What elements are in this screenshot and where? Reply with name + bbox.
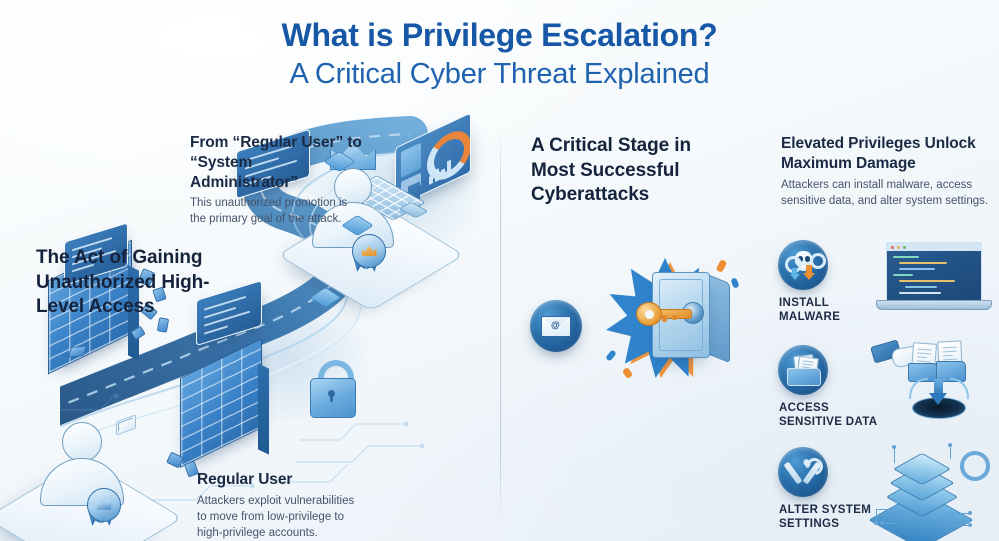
promotion-body: This unauthorized promotion is the prima…: [190, 196, 362, 228]
header: What is Privilege Escalation? A Critical…: [0, 18, 999, 91]
divider-left-middle: [500, 125, 501, 523]
list-item-label: INSTALL MALWARE: [779, 296, 889, 325]
suction-swoosh-icon: [904, 377, 974, 403]
middle-heading-block: A Critical Stage in Most Successful Cybe…: [531, 134, 731, 208]
key-unlocking-safe-group: [606, 258, 746, 388]
page-title: What is Privilege Escalation?: [0, 18, 999, 54]
key-tooth: [672, 315, 677, 320]
middle-heading-text: A Critical Stage in Most Successful Cybe…: [531, 134, 731, 208]
wrench-screwdriver-icon: [778, 447, 828, 497]
laptop-code-icon: [874, 236, 994, 328]
key-head-icon: [636, 302, 662, 326]
spark: [730, 277, 739, 289]
gear-icon: [960, 451, 990, 481]
promotion-heading: From “Regular User” to “System Administr…: [190, 133, 362, 192]
promotion-text-block: From “Regular User” to “System Administr…: [190, 133, 362, 228]
list-item[interactable]: ACCESS SENSITIVE DATA: [778, 345, 993, 439]
key-tooth: [662, 315, 667, 322]
left-main-heading-text: The Act of Gaining Unauthorized High-Lev…: [36, 246, 236, 320]
spark: [622, 367, 633, 379]
right-heading-block: Elevated Privileges Unlock Maximum Damag…: [781, 134, 989, 209]
right-body-text: Attackers can install malware, access se…: [781, 178, 989, 210]
spark: [716, 259, 728, 273]
left-main-heading: The Act of Gaining Unauthorized High-Lev…: [36, 246, 236, 320]
padlock-body: [310, 378, 356, 418]
regular-user-heading: Regular User: [197, 470, 363, 490]
screwdriver-shape: [784, 462, 803, 485]
regular-user-badge-icon: [87, 488, 121, 522]
regular-user-text-block: Regular User Attackers exploit vulnerabi…: [197, 470, 363, 541]
skull-gear-download-icon: [778, 240, 828, 290]
list-item-label: ACCESS SENSITIVE DATA: [779, 401, 889, 430]
server-stack-gear-icon: [874, 443, 994, 535]
admin-badge-icon: [352, 234, 386, 268]
infographic-canvas: What is Privilege Escalation? A Critical…: [0, 0, 999, 541]
email-envelope-icon: @: [530, 300, 582, 352]
list-item[interactable]: ALTER SYSTEM SETTINGS: [778, 447, 993, 541]
page-subtitle: A Critical Cyber Threat Explained: [0, 58, 999, 91]
spark: [605, 349, 617, 361]
padlock-keyhole: [328, 390, 335, 397]
gear-icon: [810, 253, 826, 269]
hand-stealing-files-icon: [874, 341, 994, 433]
regular-user-head-icon: [62, 422, 102, 462]
regular-user-body: Attackers exploit vulnerabilities to mov…: [197, 494, 363, 541]
wall-edge: [258, 363, 269, 454]
list-item[interactable]: INSTALL MALWARE: [778, 240, 993, 334]
right-heading-text: Elevated Privileges Unlock Maximum Damag…: [781, 134, 989, 174]
folder-documents-icon: [778, 345, 828, 395]
